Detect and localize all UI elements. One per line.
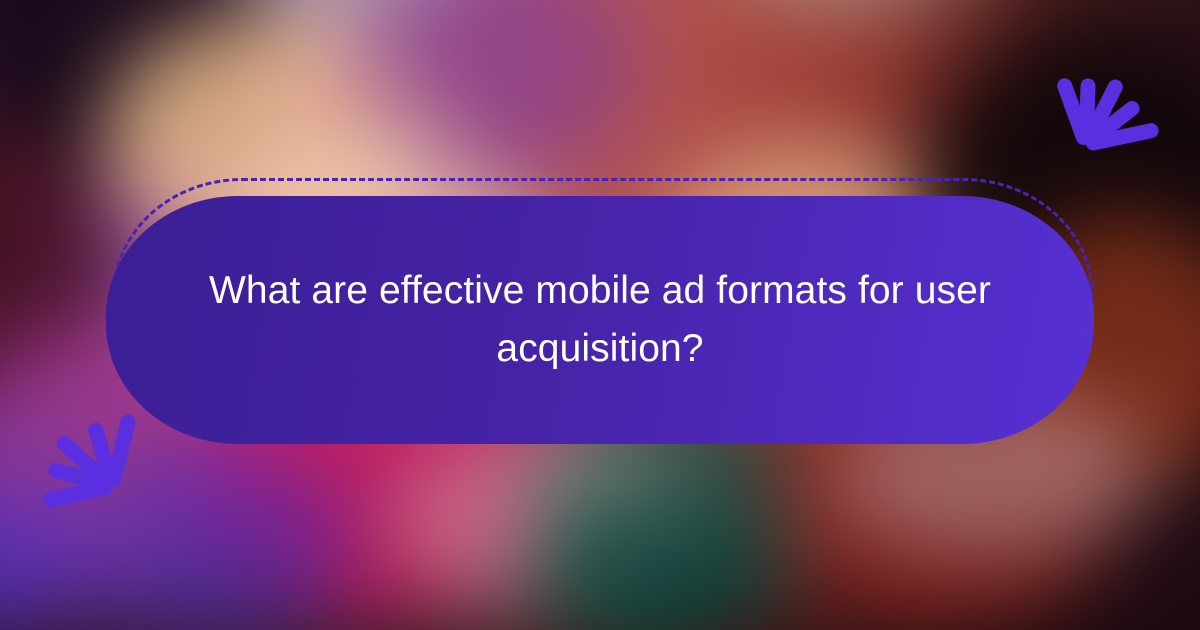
question-card: What are effective mobile ad formats for… (106, 196, 1094, 444)
poster-canvas: What are effective mobile ad formats for… (0, 0, 1200, 630)
question-text: What are effective mobile ad formats for… (205, 262, 995, 378)
